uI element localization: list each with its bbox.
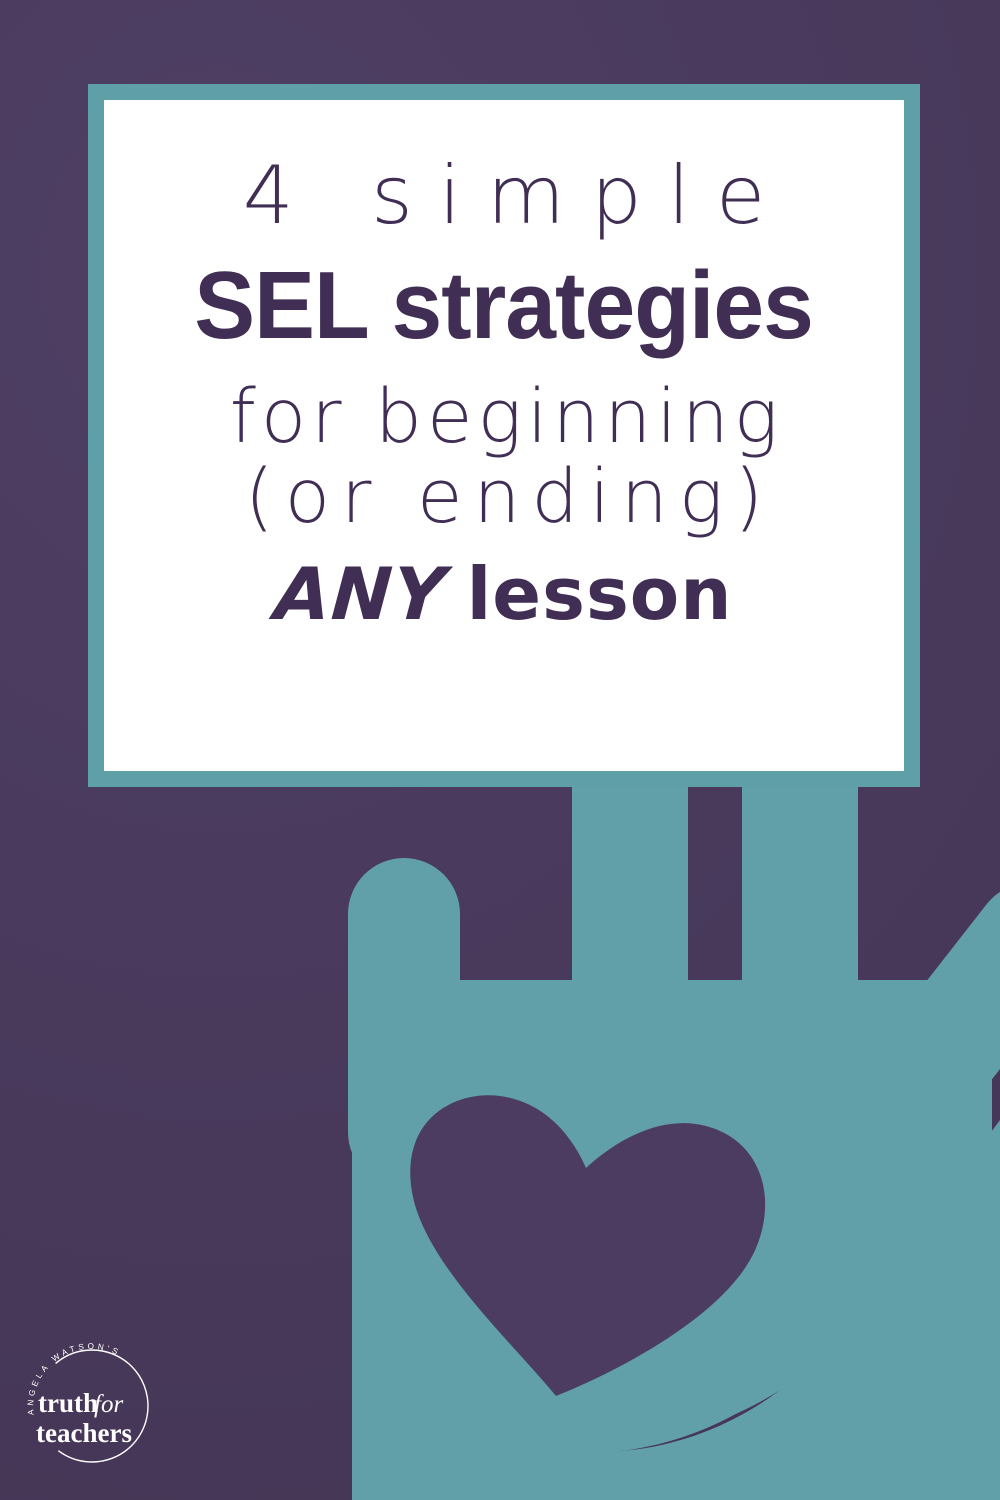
logo-word-for: for xyxy=(94,1391,123,1418)
headline-line-4: (or ending) xyxy=(234,460,774,534)
headline-line-3: for beginning xyxy=(225,380,783,454)
headline-emphasis-any: ANY xyxy=(273,558,449,630)
title-card-inner: 4 simple SEL strategies for beginning (o… xyxy=(104,100,904,771)
pinterest-pin-graphic: 4 simple SEL strategies for beginning (o… xyxy=(0,0,1000,1500)
logo-mark: ANGELA WATSON'S truth for teachers xyxy=(22,1334,172,1484)
headline-line-2: SEL strategies xyxy=(195,258,814,354)
headline-word-lesson: lesson xyxy=(467,558,733,630)
logo-word-truth: truth xyxy=(38,1388,98,1418)
title-card: 4 simple SEL strategies for beginning (o… xyxy=(88,84,920,787)
truth-for-teachers-logo[interactable]: ANGELA WATSON'S truth for teachers xyxy=(22,1334,172,1484)
headline-line-1: 4 simple xyxy=(217,156,791,236)
headline-line-5: ANY lesson xyxy=(275,558,732,630)
logo-word-teachers: teachers xyxy=(36,1418,132,1448)
